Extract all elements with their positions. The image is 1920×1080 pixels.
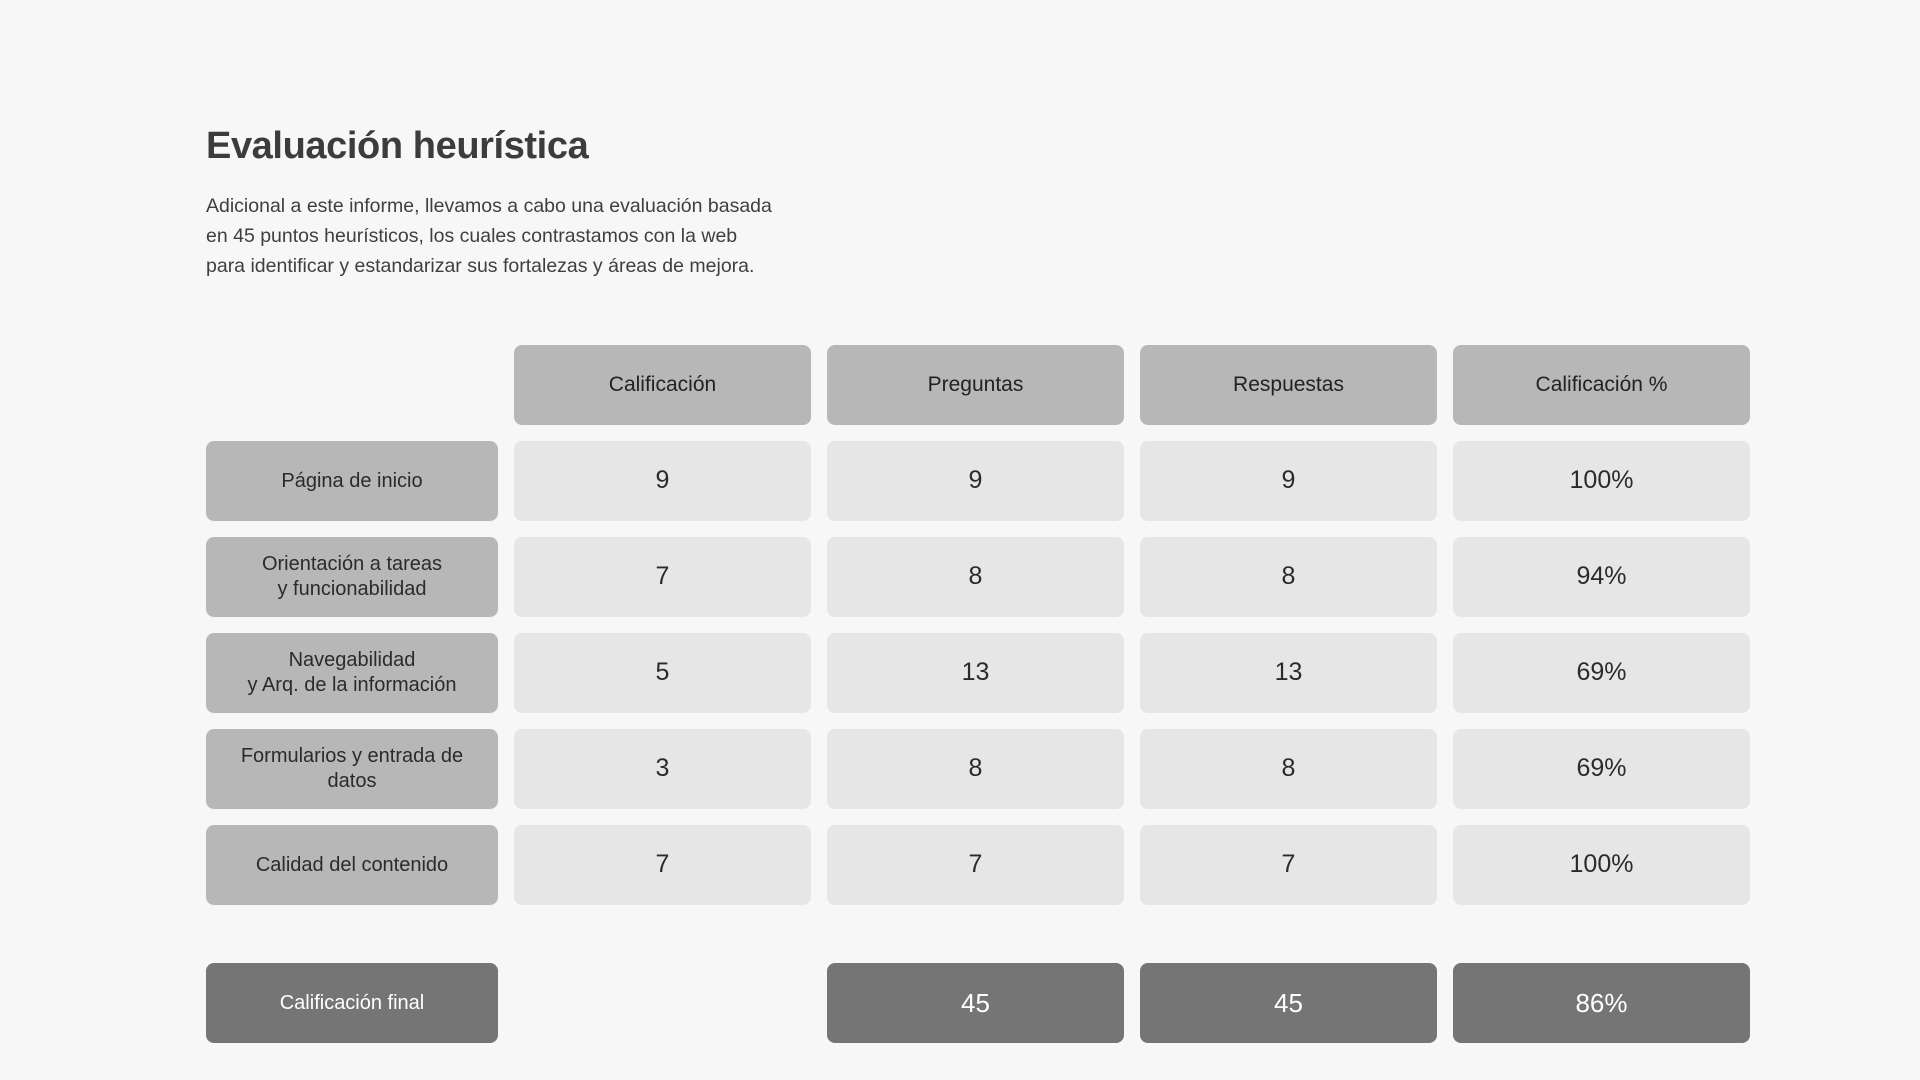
spacer [514, 921, 811, 947]
table-cell: 3 [514, 729, 811, 809]
spacer [498, 921, 514, 947]
column-header-calificacion-pct: Calificación % [1453, 345, 1750, 425]
spacer [1124, 921, 1140, 947]
column-gap [811, 825, 827, 905]
column-gap [1124, 825, 1140, 905]
column-gap [811, 537, 827, 617]
column-gap [1437, 963, 1453, 1043]
table-cell: 94% [1453, 537, 1750, 617]
column-gap [1124, 345, 1140, 425]
evaluation-table: Calificación Preguntas Respuestas Califi… [206, 345, 1716, 1043]
column-gap [1437, 441, 1453, 521]
table-corner-cell [206, 345, 498, 425]
table-cell: 8 [827, 729, 1124, 809]
column-gap [1124, 729, 1140, 809]
column-gap [498, 537, 514, 617]
column-gap [1437, 537, 1453, 617]
row-label: Página de inicio [206, 441, 498, 521]
table-cell: 7 [1140, 825, 1437, 905]
column-gap [811, 729, 827, 809]
column-gap [1437, 729, 1453, 809]
heuristic-evaluation-page: Evaluación heurística Adicional a este i… [0, 0, 1920, 1080]
table-cell: 5 [514, 633, 811, 713]
row-label: Navegabilidad y Arq. de la información [206, 633, 498, 713]
header-block: Evaluación heurística Adicional a este i… [206, 125, 966, 281]
table-cell: 7 [514, 537, 811, 617]
table-cell: 8 [1140, 537, 1437, 617]
column-gap [811, 633, 827, 713]
column-gap [1124, 441, 1140, 521]
column-gap [1437, 633, 1453, 713]
column-gap [1437, 345, 1453, 425]
spacer [827, 921, 1124, 947]
column-gap [498, 963, 514, 1043]
table-cell: 100% [1453, 441, 1750, 521]
column-gap [1437, 825, 1453, 905]
total-cell-empty [514, 963, 811, 1043]
spacer [1453, 921, 1750, 947]
table-cell: 13 [1140, 633, 1437, 713]
table-cell: 69% [1453, 633, 1750, 713]
column-gap [811, 345, 827, 425]
table-cell: 7 [514, 825, 811, 905]
spacer [811, 921, 827, 947]
column-header-preguntas: Preguntas [827, 345, 1124, 425]
row-label: Orientación a tareas y funcionabilidad [206, 537, 498, 617]
total-cell-preguntas: 45 [827, 963, 1124, 1043]
table-cell: 100% [1453, 825, 1750, 905]
spacer [206, 921, 498, 947]
column-gap [811, 963, 827, 1043]
table-cell: 9 [514, 441, 811, 521]
column-gap [498, 633, 514, 713]
table-cell: 7 [827, 825, 1124, 905]
table-cell: 8 [1140, 729, 1437, 809]
column-gap [811, 441, 827, 521]
table-cell: 69% [1453, 729, 1750, 809]
column-gap [1124, 537, 1140, 617]
table-cell: 9 [827, 441, 1124, 521]
column-header-calificacion: Calificación [514, 345, 811, 425]
table-cell: 8 [827, 537, 1124, 617]
column-gap [498, 345, 514, 425]
table-cell: 9 [1140, 441, 1437, 521]
spacer [1140, 921, 1437, 947]
column-gap [498, 729, 514, 809]
table-cell: 13 [827, 633, 1124, 713]
total-row-label: Calificación final [206, 963, 498, 1043]
total-cell-calificacion-pct: 86% [1453, 963, 1750, 1043]
column-gap [1124, 633, 1140, 713]
column-gap [498, 825, 514, 905]
page-title: Evaluación heurística [206, 125, 966, 169]
row-label: Calidad del contenido [206, 825, 498, 905]
column-gap [1124, 963, 1140, 1043]
row-label: Formularios y entrada de datos [206, 729, 498, 809]
intro-paragraph: Adicional a este informe, llevamos a cab… [206, 191, 966, 282]
column-header-respuestas: Respuestas [1140, 345, 1437, 425]
total-cell-respuestas: 45 [1140, 963, 1437, 1043]
spacer [1437, 921, 1453, 947]
column-gap [498, 441, 514, 521]
